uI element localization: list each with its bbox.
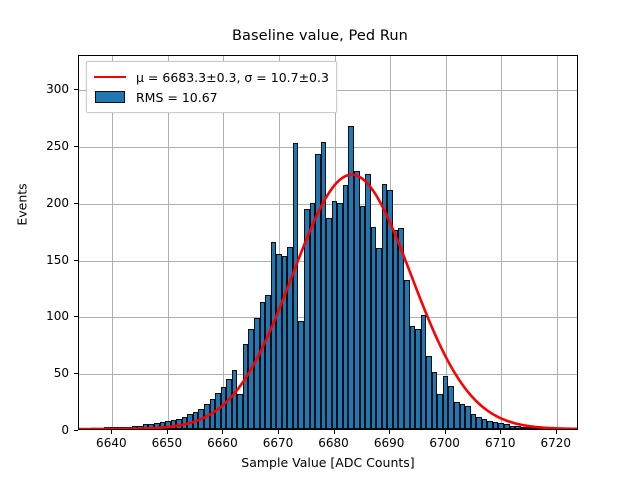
y-tick-label: 50 — [54, 366, 69, 380]
y-tick — [74, 316, 78, 317]
x-tick — [500, 430, 501, 434]
x-tick-label: 6660 — [207, 436, 238, 450]
x-tick-label: 6710 — [485, 436, 516, 450]
x-tick — [334, 430, 335, 434]
y-tick — [74, 430, 78, 431]
figure-canvas: Baseline value, Ped Run 6640665066606670… — [0, 0, 640, 480]
x-tick — [111, 430, 112, 434]
legend-label-rms: RMS = 10.67 — [136, 90, 218, 105]
legend-line-swatch — [93, 76, 127, 78]
y-tick — [74, 373, 78, 374]
x-tick — [278, 430, 279, 434]
y-tick — [74, 260, 78, 261]
x-tick-label: 6720 — [540, 436, 571, 450]
x-tick — [556, 430, 557, 434]
x-tick-label: 6680 — [318, 436, 349, 450]
x-tick-label: 6670 — [263, 436, 294, 450]
x-tick — [445, 430, 446, 434]
y-axis-label: Events — [15, 145, 30, 265]
x-tick-label: 6700 — [429, 436, 460, 450]
x-tick — [222, 430, 223, 434]
legend-patch-swatch — [93, 91, 127, 103]
chart-legend: μ = 6683.3±0.3, σ = 10.7±0.3 RMS = 10.67 — [86, 61, 337, 113]
legend-item-fit: μ = 6683.3±0.3, σ = 10.7±0.3 — [93, 67, 329, 87]
y-tick-label: 100 — [46, 309, 69, 323]
x-tick-label: 6650 — [152, 436, 183, 450]
x-tick — [389, 430, 390, 434]
legend-item-rms: RMS = 10.67 — [93, 87, 329, 107]
x-tick — [167, 430, 168, 434]
y-tick-label: 150 — [46, 253, 69, 267]
y-tick — [74, 146, 78, 147]
x-axis-label: Sample Value [ADC Counts] — [78, 455, 578, 470]
y-tick-label: 300 — [46, 82, 69, 96]
chart-title: Baseline value, Ped Run — [0, 28, 640, 44]
x-tick-label: 6690 — [374, 436, 405, 450]
y-tick-label: 200 — [46, 196, 69, 210]
x-tick-label: 6640 — [96, 436, 127, 450]
legend-label-fit: μ = 6683.3±0.3, σ = 10.7±0.3 — [136, 70, 329, 85]
y-tick-label: 250 — [46, 139, 69, 153]
y-tick-label: 0 — [61, 423, 69, 437]
y-tick — [74, 89, 78, 90]
y-tick — [74, 203, 78, 204]
